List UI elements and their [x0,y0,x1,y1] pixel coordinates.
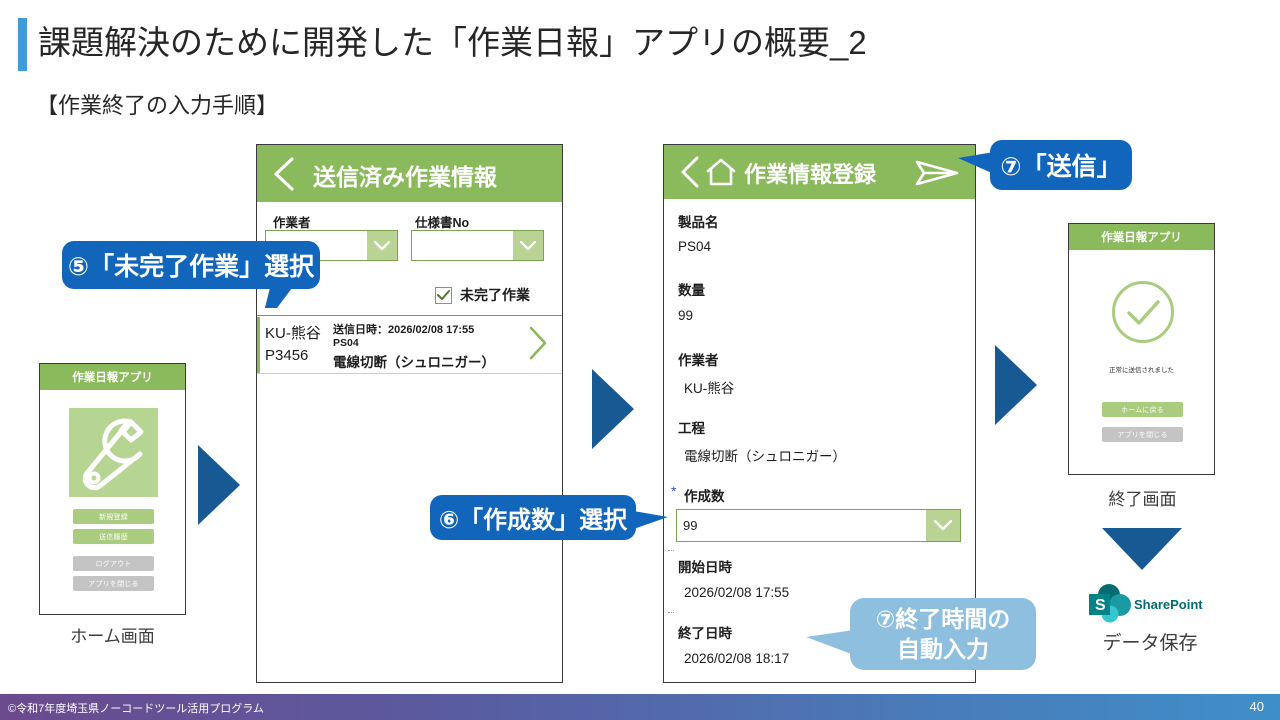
list-item-product: PS04 [333,337,359,349]
field-label-process: 工程 [678,417,705,437]
field-label-createcount: 作成数 [684,485,725,505]
home-button-close[interactable]: アプリを閉じる [73,576,154,591]
field-value-start: 2026/02/08 17:55 [684,585,789,600]
field-label-product: 製品名 [678,211,719,231]
field-label-worker: 作業者 [678,349,719,369]
phone-mock-sent-list: 送信済み作業情報 作業者 仕様書No 未完了作業 KU-熊谷 P34 [256,144,563,683]
list-item-process: 電線切断（シュロニガー） [333,351,495,371]
filter-label-worker: 作業者 [273,212,311,231]
wrench-icon-svg [69,408,158,497]
svg-text:S: S [1095,597,1106,614]
list-item-sent-datetime: 送信日時：2026/02/08 17:55 [333,321,474,337]
page-subtitle: 【作業終了の入力手順】 [36,88,278,120]
callout-send: ⑦「送信」 [990,140,1132,190]
chevron-left-icon[interactable] [271,156,297,198]
home-button-history[interactable]: 送信履歴 [73,529,154,544]
field-label-quantity: 数量 [678,279,705,299]
required-marker: * [671,483,676,499]
incomplete-work-checkbox-row[interactable]: 未完了作業 [435,285,530,305]
phone-mock-home: 作業日報アプリ 新規登録 送信履歴 ログアウト アプリを閉じる [39,363,186,615]
callout-7-tail [958,152,994,174]
footer-copyright: ©令和7年度埼玉県ノーコードツール活用プログラム [8,700,264,716]
chevron-down-icon[interactable] [926,510,960,541]
createcount-value: 99 [677,510,926,541]
list-item-accent [257,317,260,373]
page-title: 課題解決のために開発した「作業日報」アプリの概要_2 [38,20,867,66]
field-label-start: 開始日時 [678,556,732,576]
sharepoint-logo-svg: S SharePoint [1087,583,1207,623]
filter-specno-value [412,231,513,260]
done-app-header: 作業日報アプリ [1069,224,1214,250]
chevron-down-icon[interactable] [513,231,543,260]
wrench-icon [69,408,158,497]
list-item-worker: KU-熊谷 [265,322,321,343]
list-divider [257,315,562,316]
sharepoint-logo: S SharePoint [1087,583,1207,621]
title-accent-bar [18,18,27,71]
filter-label-specno: 仕様書No [415,212,469,231]
callout-8-tail [806,630,854,655]
caption-data-save: データ保存 [1060,628,1240,655]
callout-select-incomplete: ⑤「未完了作業」選択 [62,241,320,289]
field-value-end: 2026/02/08 18:17 [684,651,789,666]
callout-auto-endtime: ⑦終了時間の 自動入力 [850,598,1036,670]
caption-done-screen: 終了画面 [1050,485,1235,510]
list-item[interactable]: KU-熊谷 P3456 送信日時：2026/02/08 17:55 PS04 電… [257,317,562,373]
chevron-left-icon[interactable] [678,155,702,195]
phone-mock-done: 作業日報アプリ 正常に送信されました ホームに戻る アプリを閉じる [1068,223,1215,475]
field-value-quantity: 99 [678,308,693,323]
register-title: 作業情報登録 [744,157,876,189]
field-label-end: 終了日時 [678,622,732,642]
filter-specno-select[interactable] [411,230,544,261]
field-value-product: PS04 [678,239,711,254]
flow-arrow-4 [1102,528,1182,570]
list-dash-2 [668,612,674,613]
slide-footer: ©令和7年度埼玉県ノーコードツール活用プログラム 40 [0,694,1280,720]
callout-auto-endtime-line2: 自動入力 [897,634,989,664]
createcount-select[interactable]: 99 [676,509,961,542]
sent-list-title: 送信済み作業情報 [313,158,497,192]
done-button-home[interactable]: ホームに戻る [1102,402,1183,417]
flow-arrow-1 [198,445,240,525]
list-item-code: P3456 [265,347,308,364]
sent-list-header: 送信済み作業情報 [257,145,562,202]
checkbox-incomplete-label: 未完了作業 [460,285,530,305]
slide-canvas: 課題解決のために開発した「作業日報」アプリの概要_2 【作業終了の入力手順】 作… [0,0,1280,720]
home-icon[interactable] [706,158,736,192]
field-value-worker: KU-熊谷 [684,377,734,397]
home-button-logout[interactable]: ログアウト [73,556,154,571]
list-divider-bottom [257,373,562,374]
send-icon[interactable] [915,159,959,193]
home-button-new[interactable]: 新規登録 [73,509,154,524]
register-header: 作業情報登録 [664,145,975,199]
field-value-process: 電線切断（シュロニガー） [684,445,846,465]
checkbox-incomplete[interactable] [435,287,452,304]
home-app-header: 作業日報アプリ [40,364,185,390]
chevron-down-icon[interactable] [367,231,397,260]
callout-select-createcount: ⑥「作成数」選択 [430,495,636,540]
done-button-close[interactable]: アプリを閉じる [1102,427,1183,442]
list-dash-1 [668,550,674,551]
callout-auto-endtime-line1: ⑦終了時間の [876,604,1010,634]
flow-arrow-3 [995,345,1037,425]
sharepoint-wordmark: SharePoint [1134,597,1203,612]
done-message: 正常に送信されました [1069,364,1214,374]
chevron-right-icon[interactable] [528,326,548,365]
footer-page-number: 40 [1250,699,1264,714]
flow-arrow-2 [592,369,634,449]
check-circle-icon [1112,281,1174,343]
caption-home-screen: ホーム画面 [20,622,205,647]
